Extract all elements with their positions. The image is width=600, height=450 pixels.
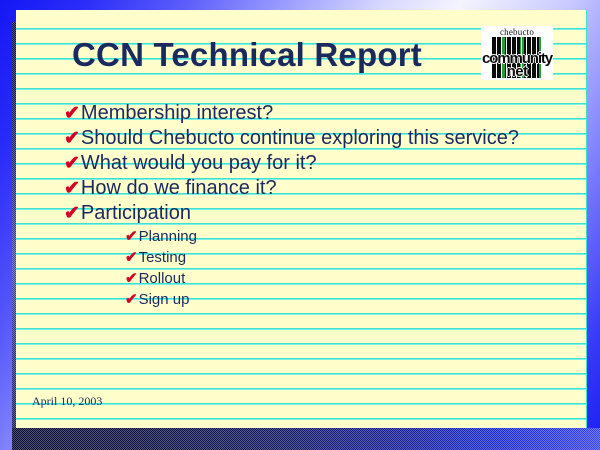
checkmark-icon: ✔ xyxy=(64,201,80,226)
sub-list-item: ✔ Planning xyxy=(125,226,564,247)
bullet-list: ✔ Membership interest? ✔ Should Chebucto… xyxy=(64,101,564,310)
sub-list-item-label: Sign up xyxy=(139,289,564,310)
sub-list-item-label: Planning xyxy=(139,226,564,247)
bottom-accent-band xyxy=(12,428,600,450)
list-item: ✔ Should Chebucto continue exploring thi… xyxy=(64,126,564,151)
sub-list-item-label: Testing xyxy=(139,247,564,268)
list-item: ✔ What would you pay for it? xyxy=(64,151,564,176)
list-item-label: Participation xyxy=(81,201,564,226)
slide-date: April 10, 2003 xyxy=(32,394,102,409)
sub-list-item: ✔ Sign up xyxy=(125,289,564,310)
list-item-label: Should Chebucto continue exploring this … xyxy=(81,126,564,151)
list-item: ✔ Membership interest? xyxy=(64,101,564,126)
checkmark-icon: ✔ xyxy=(125,226,138,247)
list-item-label: What would you pay for it? xyxy=(81,151,564,176)
list-item-label: Membership interest? xyxy=(81,101,564,126)
list-item: ✔ How do we finance it? xyxy=(64,176,564,201)
slide-canvas: chebucto community net CCN Technical Rep… xyxy=(0,0,600,450)
checkmark-icon: ✔ xyxy=(125,247,138,268)
slide-title: CCN Technical Report xyxy=(72,36,422,74)
list-item-label: How do we finance it? xyxy=(81,176,564,201)
sub-list-item: ✔ Testing xyxy=(125,247,564,268)
checkmark-icon: ✔ xyxy=(64,151,80,176)
sub-list-item: ✔ Rollout xyxy=(125,268,564,289)
chebucto-community-net-logo: chebucto community net xyxy=(481,26,553,80)
logo-text-chebucto: chebucto xyxy=(481,27,553,37)
logo-text-net: net xyxy=(481,64,553,79)
sub-list-item-label: Rollout xyxy=(139,268,564,289)
checkmark-icon: ✔ xyxy=(125,268,138,289)
checkmark-icon: ✔ xyxy=(64,101,80,126)
list-item: ✔ Participation xyxy=(64,201,564,226)
checkmark-icon: ✔ xyxy=(64,176,80,201)
checkmark-icon: ✔ xyxy=(64,126,80,151)
checkmark-icon: ✔ xyxy=(125,289,138,310)
